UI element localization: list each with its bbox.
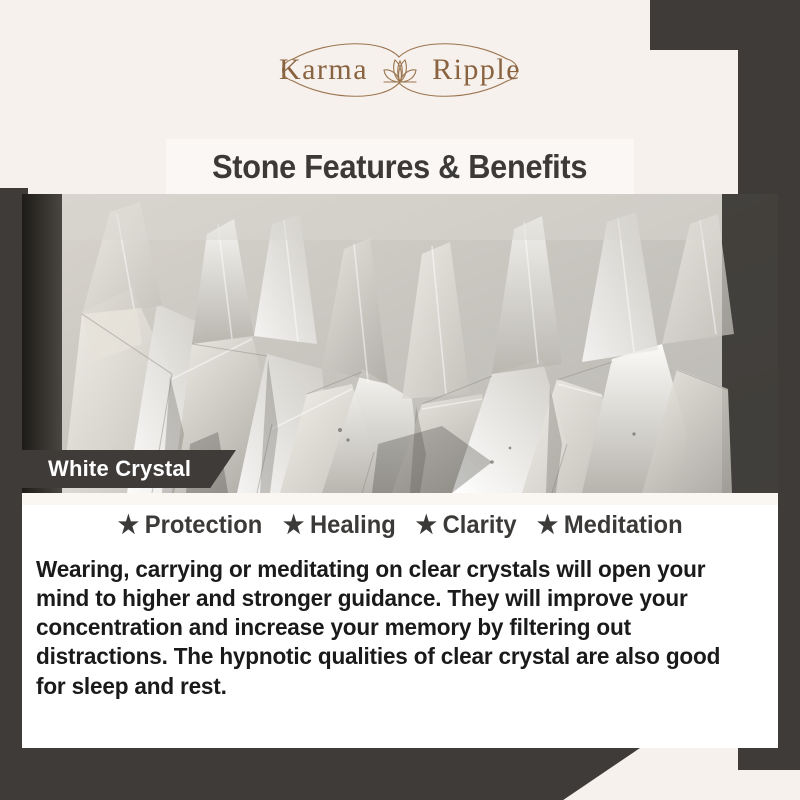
feature-label: Meditation [564,511,683,540]
content-panel: ★ Protection ★ Healing ★ Clarity ★ Medit… [22,493,778,748]
star-icon: ★ [118,513,139,538]
crystal-photo-illustration [22,194,778,493]
stone-name-badge: White Crystal [22,450,236,488]
poster-canvas: Karma Ripple Stone Features & Benefits [0,0,800,800]
feature-item-meditation: ★ Meditation [537,511,683,540]
feature-item-protection: ★ Protection [118,511,262,540]
stone-description: Wearing, carrying or meditating on clear… [36,555,739,701]
brand-name-right: Ripple [432,53,521,87]
feature-label: Clarity [442,511,516,540]
brand-logo: Karma Ripple [0,34,800,106]
page-title: Stone Features & Benefits [212,148,587,186]
title-banner: Stone Features & Benefits [166,139,634,194]
stone-name-label: White Crystal [22,456,191,482]
feature-label: Protection [145,511,262,540]
feature-label: Healing [310,511,396,540]
star-icon: ★ [283,513,304,538]
star-icon: ★ [415,513,436,538]
crystal-photo [22,194,778,493]
brand-name-left: Karma [279,53,368,87]
frame-bar-bottom [0,748,640,800]
panel-top-tint [22,493,778,505]
feature-item-healing: ★ Healing [283,511,396,540]
star-icon: ★ [537,513,558,538]
feature-list: ★ Protection ★ Healing ★ Clarity ★ Medit… [22,511,778,540]
feature-item-clarity: ★ Clarity [415,511,516,540]
